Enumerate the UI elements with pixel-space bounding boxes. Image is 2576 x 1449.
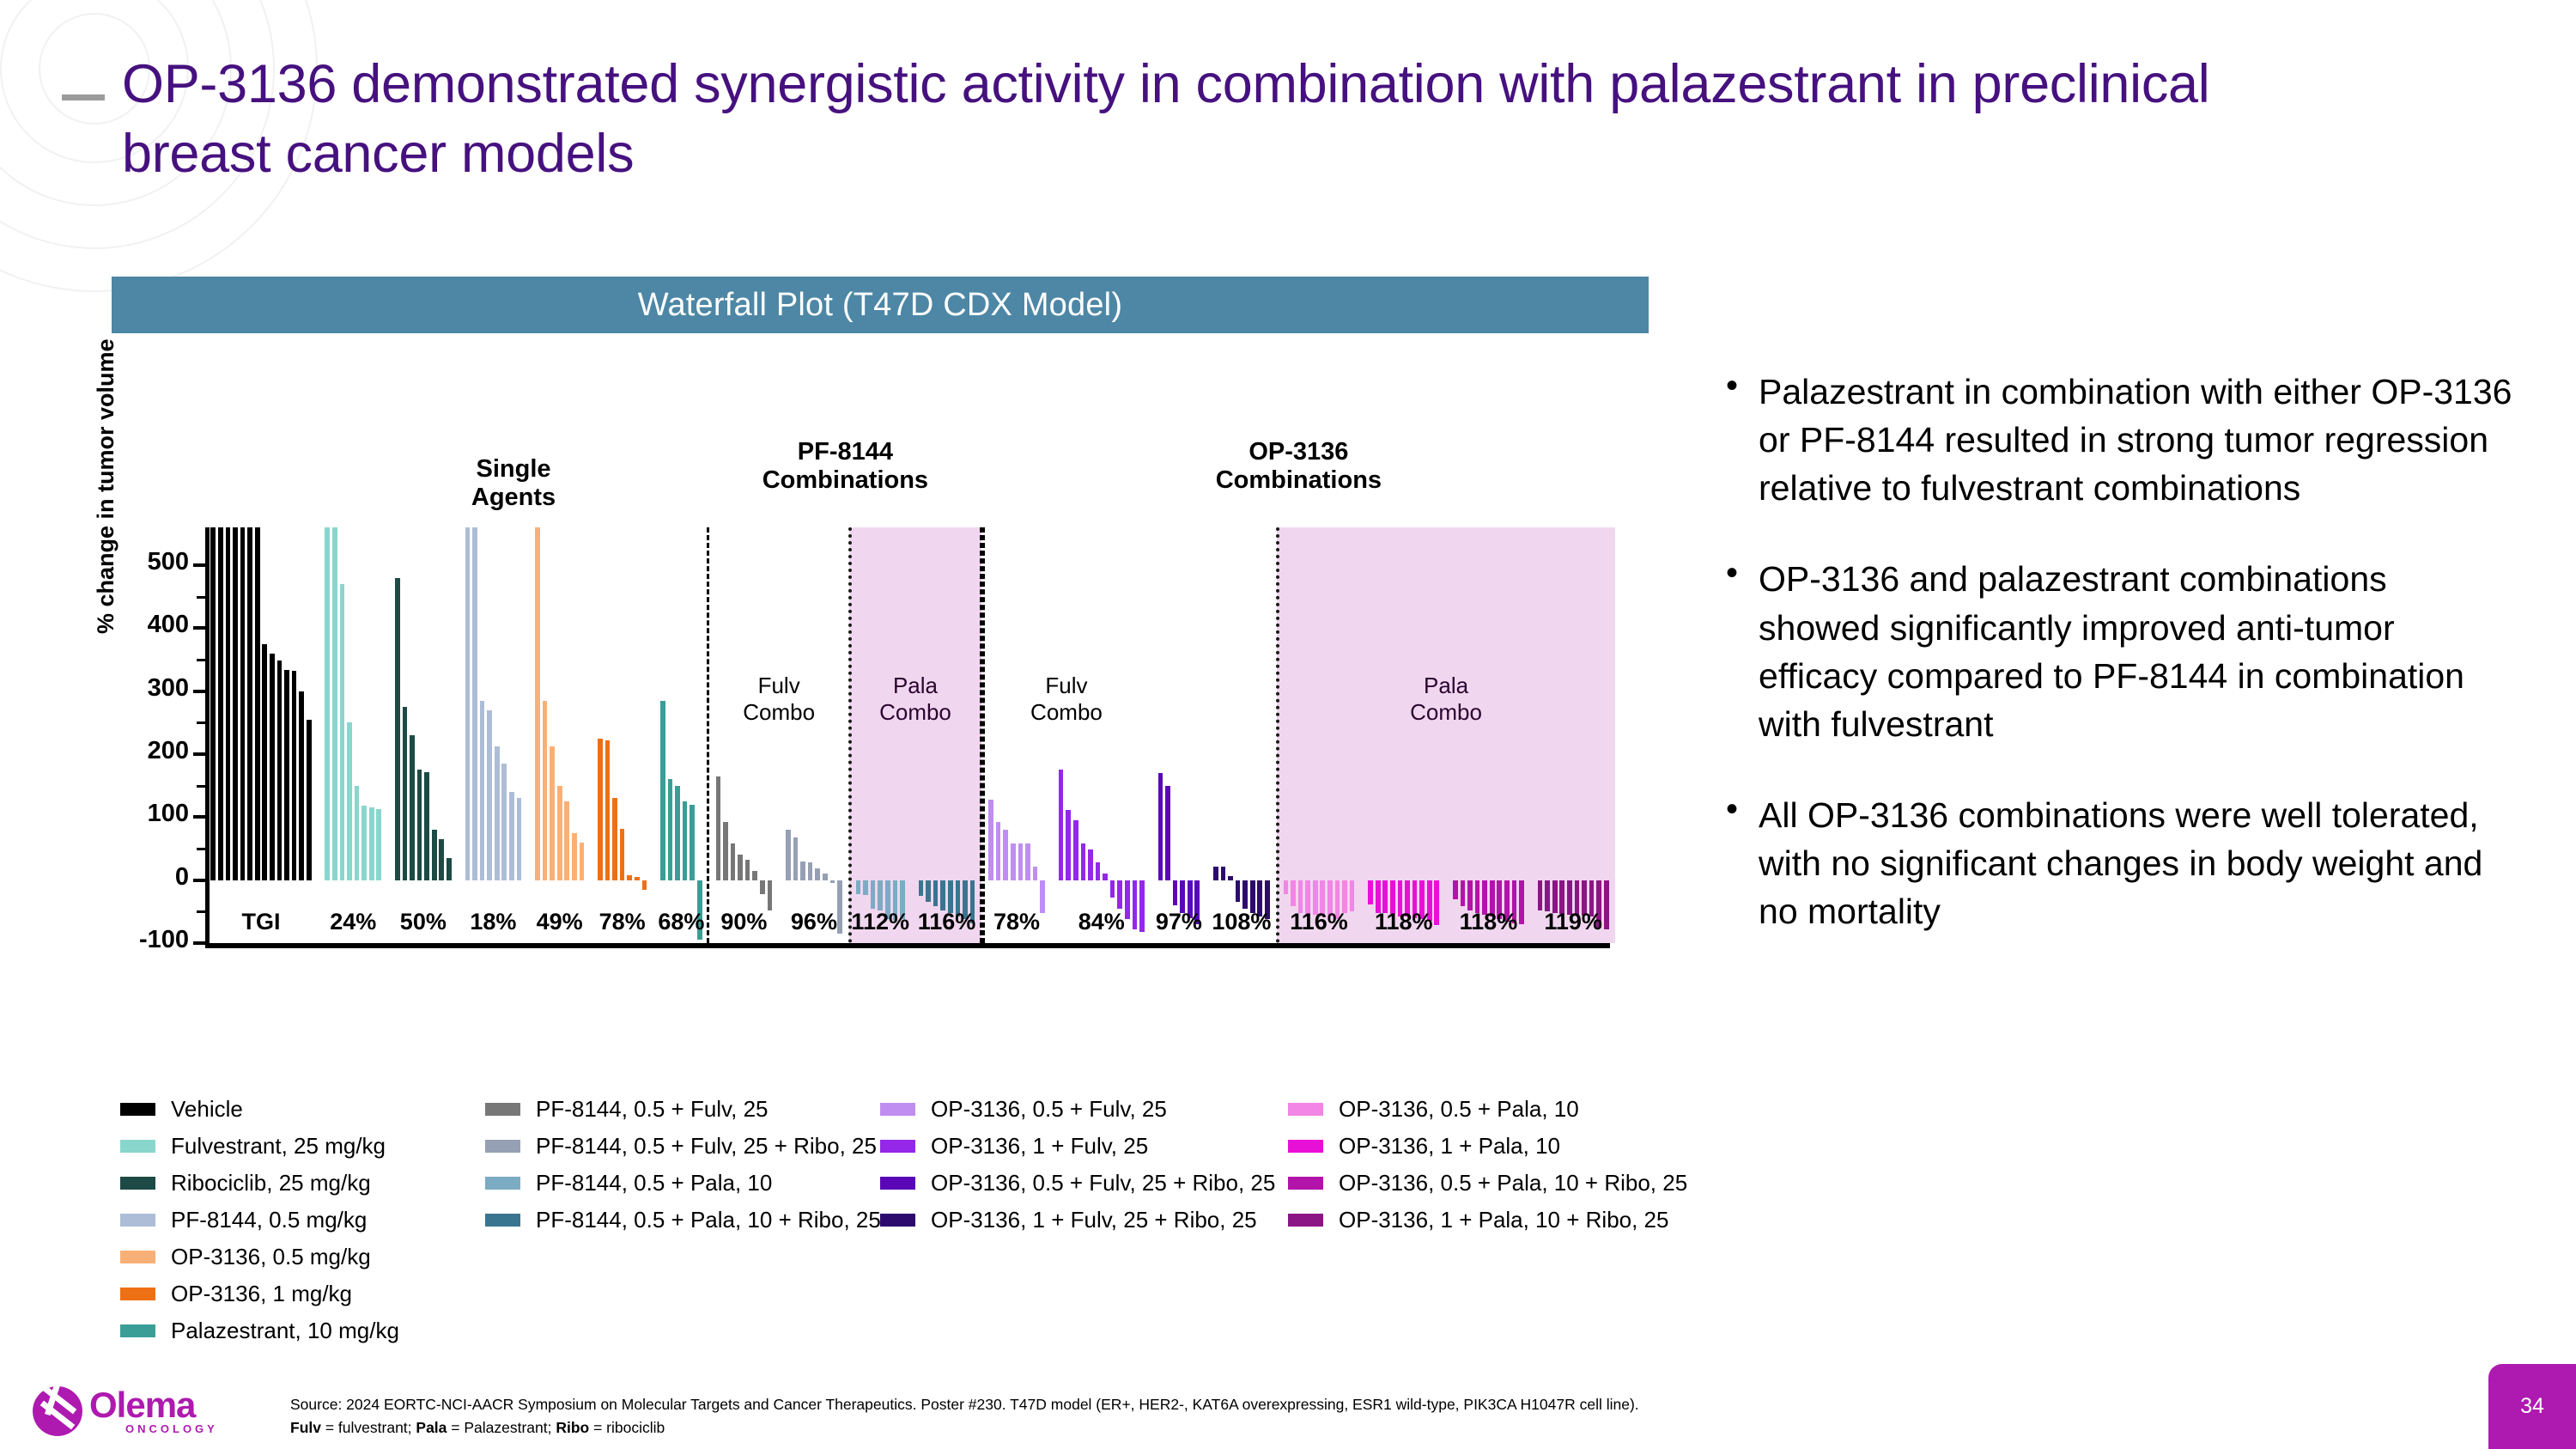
divider-pf-pala-start	[848, 527, 852, 943]
chart-bar	[856, 880, 861, 894]
chart-bar	[424, 772, 429, 880]
legend-label: OP-3136, 1 + Fulv, 25	[931, 1133, 1148, 1160]
legend-item[interactable]: PF-8144, 0.5 + Fulv, 25 + Ribo, 25	[485, 1128, 881, 1165]
chart-bar	[683, 801, 688, 880]
y-tick-label: -100	[112, 926, 189, 954]
chart-bar	[501, 764, 507, 880]
divider-op-pala-start	[1276, 527, 1279, 943]
legend-swatch-icon	[485, 1103, 520, 1116]
legend-item[interactable]: Fulvestrant, 25 mg/kg	[120, 1128, 399, 1165]
olema-logo-icon	[33, 1386, 82, 1436]
chart-bar	[233, 527, 238, 880]
legend-column: PF-8144, 0.5 + Fulv, 25PF-8144, 0.5 + Fu…	[485, 1091, 881, 1239]
chart-bar	[1081, 843, 1086, 880]
chart-bar	[361, 806, 367, 880]
chart-bar	[745, 860, 750, 880]
abbrev-pala-key: Pala	[416, 1419, 447, 1436]
y-tick-label: 300	[112, 674, 189, 703]
chart-bar	[226, 527, 231, 880]
chart-bar	[863, 880, 868, 896]
chart-bar	[307, 720, 312, 880]
tgi-value: 119%	[1510, 909, 1636, 935]
chart-bar	[580, 843, 585, 880]
title-dash-icon	[62, 94, 105, 100]
chart-bar	[325, 527, 330, 880]
legend-swatch-icon	[880, 1140, 915, 1153]
legend-item[interactable]: PF-8144, 0.5 + Pala, 10	[485, 1165, 881, 1202]
chart-bar	[472, 527, 477, 880]
sub-caption-line2: Combo	[879, 699, 951, 725]
chart-bar	[557, 786, 562, 880]
legend-item[interactable]: OP-3136, 1 + Fulv, 25 + Ribo, 25	[880, 1202, 1275, 1239]
chart-bar	[690, 805, 695, 880]
chart-bar	[369, 807, 374, 880]
legend-item[interactable]: OP-3136, 1 + Pala, 10	[1288, 1128, 1687, 1165]
chart-bar	[1096, 862, 1101, 880]
chart-bar	[355, 786, 360, 880]
group-header-line2: Agents	[471, 484, 556, 511]
chart-bar	[815, 868, 820, 880]
chart-bar	[1291, 880, 1296, 907]
chart-bar	[376, 809, 381, 880]
chart-bar	[1453, 880, 1458, 899]
chart-bar	[299, 691, 304, 880]
chart-bar	[675, 786, 680, 880]
sub-caption-line2: Combo	[743, 699, 815, 725]
legend-label: Palazestrant, 10 mg/kg	[171, 1318, 399, 1344]
group-header-line1: Single	[477, 455, 551, 483]
group-header-line1: OP-3136	[1249, 438, 1348, 466]
source-abbreviations: Fulv = fulvestrant; Pala = Palazestrant;…	[290, 1416, 1922, 1440]
legend-item[interactable]: OP-3136, 0.5 mg/kg	[120, 1239, 399, 1275]
chart-bar	[612, 798, 617, 880]
chart-bar	[465, 527, 471, 880]
legend-column: VehicleFulvestrant, 25 mg/kgRibociclib, …	[120, 1091, 399, 1349]
chart-bar	[878, 880, 883, 910]
legend-item[interactable]: OP-3136, 1 mg/kg	[120, 1275, 399, 1312]
chart-bar	[262, 644, 267, 880]
legend-label: OP-3136, 1 + Pala, 10 + Ribo, 25	[1339, 1207, 1668, 1233]
group-header-single-agents: SingleAgents	[324, 455, 703, 513]
legend-swatch-icon	[880, 1177, 915, 1190]
chart-bar	[564, 801, 569, 880]
legend-swatch-icon	[120, 1324, 155, 1337]
chart-bar	[627, 875, 632, 880]
chart-bar	[543, 701, 548, 880]
legend-label: PF-8144, 0.5 + Fulv, 25	[536, 1096, 769, 1123]
legend-label: OP-3136, 0.5 mg/kg	[171, 1244, 371, 1270]
legend-swatch-icon	[1288, 1177, 1323, 1190]
key-takeaways-list: •Palazestrant in combination with either…	[1726, 368, 2516, 979]
chart-bar	[218, 527, 223, 880]
chart-bar	[871, 880, 876, 909]
chart-bar	[535, 527, 540, 880]
logo-tagline: ONCOLOGY	[125, 1422, 218, 1435]
bullet-text: OP-3136 and palazestrant combinations sh…	[1759, 555, 2516, 748]
legend-item[interactable]: Palazestrant, 10 mg/kg	[120, 1312, 399, 1349]
chart-bar	[1117, 880, 1122, 909]
abbrev-pala-val: = Palazestrant;	[447, 1419, 556, 1436]
chart-bar	[823, 874, 828, 880]
chart-bar	[432, 830, 437, 880]
chart-bar	[340, 584, 345, 880]
source-footnote: Source: 2024 EORTC-NCI-AACR Symposium on…	[290, 1393, 1922, 1440]
chart-bar	[598, 739, 603, 880]
legend-item[interactable]: PF-8144, 0.5 mg/kg	[120, 1202, 399, 1239]
legend-item[interactable]: OP-3136, 1 + Pala, 10 + Ribo, 25	[1288, 1202, 1687, 1239]
legend-item[interactable]: OP-3136, 1 + Fulv, 25	[880, 1128, 1275, 1165]
chart-bar	[793, 837, 799, 880]
legend-label: OP-3136, 0.5 + Fulv, 25	[931, 1096, 1167, 1123]
legend-label: Fulvestrant, 25 mg/kg	[171, 1133, 386, 1160]
group-header-pf8144-combinations: PF-8144Combinations	[714, 438, 976, 496]
chart-bar	[1350, 880, 1355, 912]
chart-bar	[786, 830, 791, 880]
chart-bar	[439, 839, 444, 880]
legend-label: OP-3136, 1 mg/kg	[171, 1281, 352, 1307]
chart-bar	[1228, 876, 1233, 880]
chart-bar	[940, 880, 945, 910]
y-tick-label: 200	[112, 737, 189, 765]
legend-column: OP-3136, 0.5 + Fulv, 25OP-3136, 1 + Fulv…	[880, 1091, 1275, 1239]
chart-bar	[292, 671, 297, 880]
chart-bar	[723, 822, 728, 880]
chart-bar	[731, 843, 736, 880]
legend-label: OP-3136, 1 + Fulv, 25 + Ribo, 25	[931, 1207, 1257, 1233]
chart-bar	[210, 527, 216, 880]
legend-swatch-icon	[1288, 1214, 1323, 1227]
abbrev-fulv-val: = fulvestrant;	[321, 1419, 416, 1436]
legend-item[interactable]: PF-8144, 0.5 + Pala, 10 + Ribo, 25	[485, 1202, 881, 1239]
chart-bar	[808, 862, 813, 880]
y-tick-label: 100	[112, 800, 189, 828]
sub-caption-line1: Pala	[1424, 673, 1468, 698]
legend-swatch-icon	[120, 1288, 155, 1300]
abbrev-ribo-key: Ribo	[556, 1419, 589, 1436]
chart-bar	[988, 800, 993, 880]
group-header-op3136-combinations: OP-3136Combinations	[987, 438, 1610, 496]
y-axis-line	[205, 527, 210, 943]
chart-bar	[410, 735, 415, 880]
legend-swatch-icon	[120, 1140, 155, 1153]
subcap-op3136-pala-combo: PalaCombo	[1261, 673, 1631, 726]
legend-swatch-icon	[120, 1177, 155, 1190]
chart-bar	[487, 710, 492, 880]
chart-bar	[1538, 880, 1543, 910]
chart-title-banner: Waterfall Plot (T47D CDX Model)	[112, 277, 1649, 333]
chart-bar	[1165, 786, 1170, 880]
chart-legend: VehicleFulvestrant, 25 mg/kgRibociclib, …	[120, 1091, 1666, 1349]
legend-label: PF-8144, 0.5 + Pala, 10 + Ribo, 25	[536, 1207, 881, 1233]
group-header-line1: PF-8144	[798, 438, 893, 466]
sub-caption-line1: Fulv	[1045, 673, 1087, 698]
chart-bar	[1073, 820, 1078, 880]
bullet-text: Palazestrant in combination with either …	[1759, 368, 2516, 512]
y-tick-label: 500	[112, 548, 189, 576]
x-axis-line	[205, 943, 1610, 948]
legend-label: OP-3136, 0.5 + Pala, 10 + Ribo, 25	[1339, 1170, 1687, 1196]
legend-label: PF-8144, 0.5 + Pala, 10	[536, 1170, 772, 1196]
chart-bar	[1003, 830, 1008, 880]
chart-bar	[1213, 867, 1218, 880]
legend-label: PF-8144, 0.5 mg/kg	[171, 1207, 367, 1233]
legend-item[interactable]: Vehicle	[120, 1091, 399, 1128]
chart-bar	[270, 654, 275, 880]
chart-bar	[480, 701, 485, 880]
chart-bar	[926, 880, 931, 903]
legend-label: OP-3136, 1 + Pala, 10	[1339, 1133, 1560, 1160]
legend-swatch-icon	[1288, 1140, 1323, 1153]
chart-bar	[447, 858, 452, 880]
legend-item[interactable]: OP-3136, 0.5 + Pala, 10	[1288, 1091, 1687, 1128]
chart-bar	[1110, 880, 1115, 898]
legend-swatch-icon	[485, 1177, 520, 1190]
chart-bar	[996, 822, 1001, 880]
chart-bar	[572, 833, 577, 880]
chart-bar	[1018, 843, 1024, 880]
chart-bar	[495, 746, 500, 880]
slide-root: OP-3136 demonstrated synergistic activit…	[0, 0, 2576, 1449]
legend-swatch-icon	[485, 1214, 520, 1227]
chart-bar	[1284, 880, 1289, 894]
chart-bar	[668, 779, 673, 880]
chart-bar	[1066, 810, 1071, 880]
chart-bar	[277, 661, 283, 880]
sub-caption-line2: Combo	[1410, 699, 1482, 725]
bullet-dot-icon: •	[1726, 555, 1738, 748]
sub-caption-line2: Combo	[1030, 699, 1103, 725]
group-header-line2: Combinations	[1216, 466, 1382, 494]
chart-bar	[1088, 849, 1093, 880]
bullet-dot-icon: •	[1726, 791, 1738, 935]
bullet-text: All OP-3136 combinations were well toler…	[1759, 791, 2516, 935]
chart-bar	[620, 829, 625, 880]
chart-bar	[332, 527, 337, 880]
chart-bar	[716, 776, 721, 880]
bullet-item: •All OP-3136 combinations were well tole…	[1726, 791, 2516, 935]
chart-bar	[768, 880, 773, 910]
chart-bar	[284, 670, 289, 880]
chart-bar	[347, 722, 352, 880]
chart-bar	[1461, 880, 1466, 907]
chart-bar	[830, 880, 835, 884]
legend-item[interactable]: OP-3136, 0.5 + Fulv, 25	[880, 1091, 1275, 1128]
legend-swatch-icon	[880, 1103, 915, 1116]
source-line-1: Source: 2024 EORTC-NCI-AACR Symposium on…	[290, 1393, 1922, 1416]
legend-label: OP-3136, 0.5 + Pala, 10	[1339, 1096, 1579, 1123]
chart-bar	[1368, 880, 1373, 904]
sub-caption-line1: Pala	[893, 673, 938, 698]
legend-item[interactable]: OP-3136, 0.5 + Fulv, 25 + Ribo, 25	[880, 1165, 1275, 1202]
legend-item[interactable]: Ribociclib, 25 mg/kg	[120, 1165, 399, 1202]
chart-bar	[247, 527, 252, 880]
chart-bar	[1467, 880, 1473, 910]
chart-bar	[417, 770, 422, 880]
y-tick-label: 0	[112, 863, 189, 892]
subcap-op3136-fulv-combo: FulvCombo	[967, 673, 1166, 726]
legend-swatch-icon	[485, 1140, 520, 1153]
chart-bar	[1059, 770, 1064, 880]
chart-bar	[240, 527, 246, 880]
chart-bar	[517, 798, 522, 880]
chart-bar	[919, 880, 924, 896]
abbrev-ribo-val: = ribociclib	[589, 1419, 665, 1436]
chart-bar	[1173, 880, 1178, 905]
legend-swatch-icon	[120, 1251, 155, 1263]
logo-wordmark: Olema	[89, 1385, 195, 1426]
chart-bar	[1236, 880, 1241, 903]
chart-bar	[760, 880, 765, 894]
chart-bar	[1033, 867, 1038, 880]
chart-bar	[1158, 773, 1163, 880]
legend-swatch-icon	[120, 1214, 155, 1227]
chart-bar	[1011, 843, 1016, 880]
y-tick-label: 400	[112, 611, 189, 639]
page-number-badge: 34	[2488, 1364, 2576, 1449]
chart-bar	[1025, 843, 1030, 880]
chart-bar	[642, 880, 647, 891]
legend-label: Vehicle	[171, 1096, 243, 1123]
chart-bar	[660, 701, 665, 880]
chart-bar	[635, 877, 640, 880]
chart-bar	[1242, 880, 1248, 909]
legend-item[interactable]: OP-3136, 0.5 + Pala, 10 + Ribo, 25	[1288, 1165, 1687, 1202]
legend-column: OP-3136, 0.5 + Pala, 10OP-3136, 1 + Pala…	[1288, 1091, 1687, 1239]
chart-bar	[1545, 880, 1550, 912]
legend-swatch-icon	[120, 1103, 155, 1116]
chart-bar	[403, 707, 408, 880]
abbrev-fulv-key: Fulv	[290, 1419, 321, 1436]
chart-bar	[1103, 874, 1108, 880]
legend-label: PF-8144, 0.5 + Fulv, 25 + Ribo, 25	[536, 1133, 877, 1160]
chart-bar	[800, 861, 805, 880]
legend-swatch-icon	[1288, 1103, 1323, 1116]
bullet-item: •Palazestrant in combination with either…	[1726, 368, 2516, 512]
legend-swatch-icon	[880, 1214, 915, 1227]
chart-bar	[752, 871, 757, 880]
page-title: OP-3136 demonstrated synergistic activit…	[122, 50, 2269, 188]
divider-pf-pala-end	[982, 527, 985, 943]
divider-pf8144-start	[707, 527, 709, 943]
chart-bar	[550, 746, 555, 880]
chart-bar	[1221, 867, 1226, 880]
chart-bar	[255, 527, 260, 880]
legend-label: OP-3136, 0.5 + Fulv, 25 + Ribo, 25	[931, 1170, 1275, 1196]
legend-label: Ribociclib, 25 mg/kg	[171, 1170, 371, 1196]
legend-item[interactable]: PF-8144, 0.5 + Fulv, 25	[485, 1091, 881, 1128]
chart-bar	[509, 792, 514, 880]
olema-logo: Olema ONCOLOGY	[33, 1385, 239, 1438]
bullet-dot-icon: •	[1726, 368, 1738, 512]
group-header-line2: Combinations	[762, 466, 928, 494]
chart-bar	[933, 880, 939, 907]
chart-bar	[738, 855, 743, 880]
chart-bar	[395, 578, 400, 880]
sub-caption-line1: Fulv	[758, 673, 800, 698]
pf8144-pala-combo-shade	[849, 527, 981, 943]
chart-bar	[605, 740, 611, 880]
bullet-item: •OP-3136 and palazestrant combinations s…	[1726, 555, 2516, 748]
